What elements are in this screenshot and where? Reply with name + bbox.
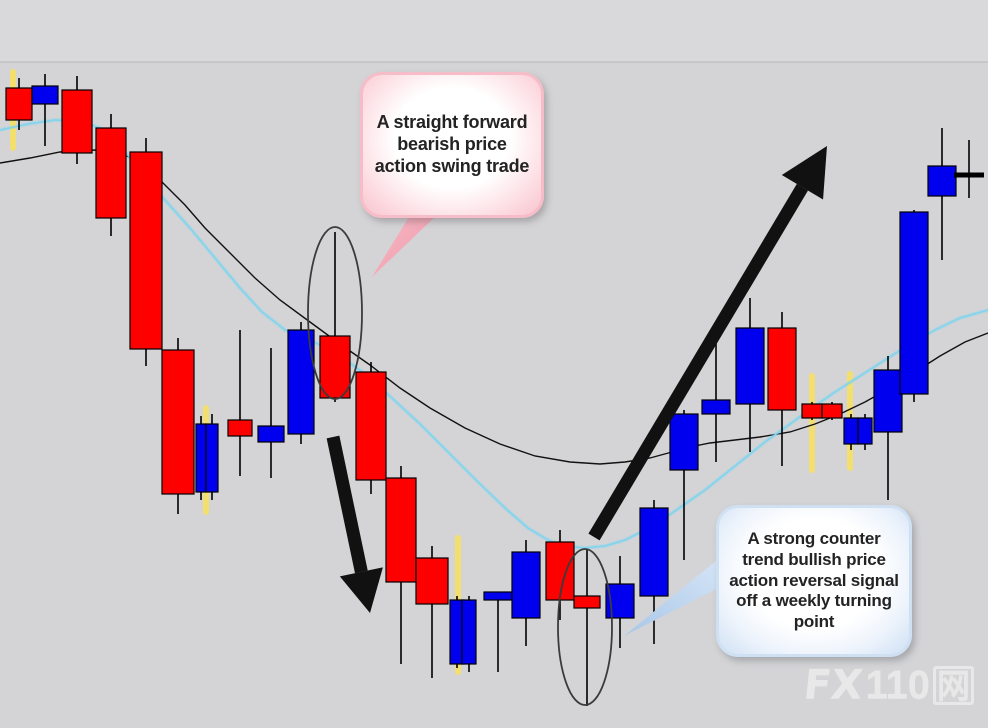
candle-30-up: [858, 414, 872, 450]
candle-9-up: [258, 348, 284, 478]
bullish-signal-circle: [558, 549, 612, 705]
candle-29-up: [844, 414, 858, 450]
watermark-cn-char: 网: [933, 666, 974, 705]
candle-1-up: [32, 74, 58, 146]
candle-body: [844, 418, 858, 444]
candle-body: [822, 404, 842, 418]
candle-27-down: [802, 402, 822, 420]
candle-body: [258, 426, 284, 442]
candle-body: [32, 86, 58, 104]
candle-5-down: [162, 338, 194, 514]
candle-body: [356, 372, 386, 480]
candle-body: [162, 350, 194, 494]
watermark-logo: FX 110 网: [804, 662, 974, 708]
callout-bearish-swing-trade: A straight forward bearish price action …: [360, 72, 544, 218]
chart-background: [0, 0, 988, 62]
candle-body: [96, 128, 126, 218]
bearish-callout-tail: [372, 212, 438, 277]
candle-body: [900, 212, 928, 394]
candle-26-down: [768, 312, 796, 466]
candle-body: [574, 596, 600, 608]
candle-body: [874, 370, 902, 432]
candle-28-down: [822, 402, 842, 420]
candle-body: [858, 418, 872, 444]
chart-canvas: A straight forward bearish price action …: [0, 0, 988, 728]
callout-bullish-reversal: A strong counter trend bullish price act…: [716, 505, 912, 657]
candle-body: [702, 400, 730, 414]
candle-body: [320, 336, 350, 398]
candle-23-up: [670, 410, 698, 560]
candle-34-doji: [954, 140, 984, 198]
callout-bearish-text: A straight forward bearish price action …: [363, 112, 541, 178]
candle-body: [802, 404, 822, 418]
candle-body: [206, 424, 218, 492]
candle-4-down: [130, 138, 162, 366]
candle-body: [416, 558, 448, 604]
candle-body: [928, 166, 956, 196]
candle-8-down: [228, 330, 252, 476]
candle-body: [130, 152, 162, 349]
candle-19-down: [546, 530, 574, 620]
candle-body: [228, 420, 252, 436]
candle-body: [6, 88, 32, 120]
candle-20-down: [574, 550, 600, 706]
candle-11-down: [320, 232, 350, 402]
candle-body: [484, 592, 512, 600]
bullish-callout-tail: [624, 556, 726, 636]
candle-body: [196, 424, 206, 492]
candle-33-up: [928, 128, 956, 260]
candle-7-up: [206, 414, 218, 500]
candle-18-up: [512, 540, 540, 646]
candle-6-up: [196, 416, 206, 500]
candle-32-up: [900, 210, 928, 402]
candle-body: [512, 552, 540, 618]
chart-top-band: [0, 0, 988, 62]
candle-body: [670, 414, 698, 470]
candle-17-up: [484, 592, 512, 672]
candle-31-up: [874, 356, 902, 500]
callout-bullish-text: A strong counter trend bullish price act…: [719, 529, 909, 633]
candle-body: [462, 600, 476, 664]
watermark-number-text: 110: [865, 663, 930, 708]
candle-body: [640, 508, 668, 596]
bearish-trend-arrow-head: [340, 567, 383, 613]
candle-body: [736, 328, 764, 404]
candle-2-down: [62, 76, 92, 164]
watermark-fx-text: FX: [802, 662, 865, 708]
candle-16-up: [462, 596, 476, 672]
candle-3-down: [96, 114, 126, 236]
candle-14-down: [416, 546, 448, 678]
candle-body: [62, 90, 92, 153]
candle-13-down: [386, 466, 416, 664]
candle-body: [768, 328, 796, 410]
candle-12-down: [356, 362, 386, 494]
candle-25-up: [736, 298, 764, 452]
candle-body: [386, 478, 416, 582]
